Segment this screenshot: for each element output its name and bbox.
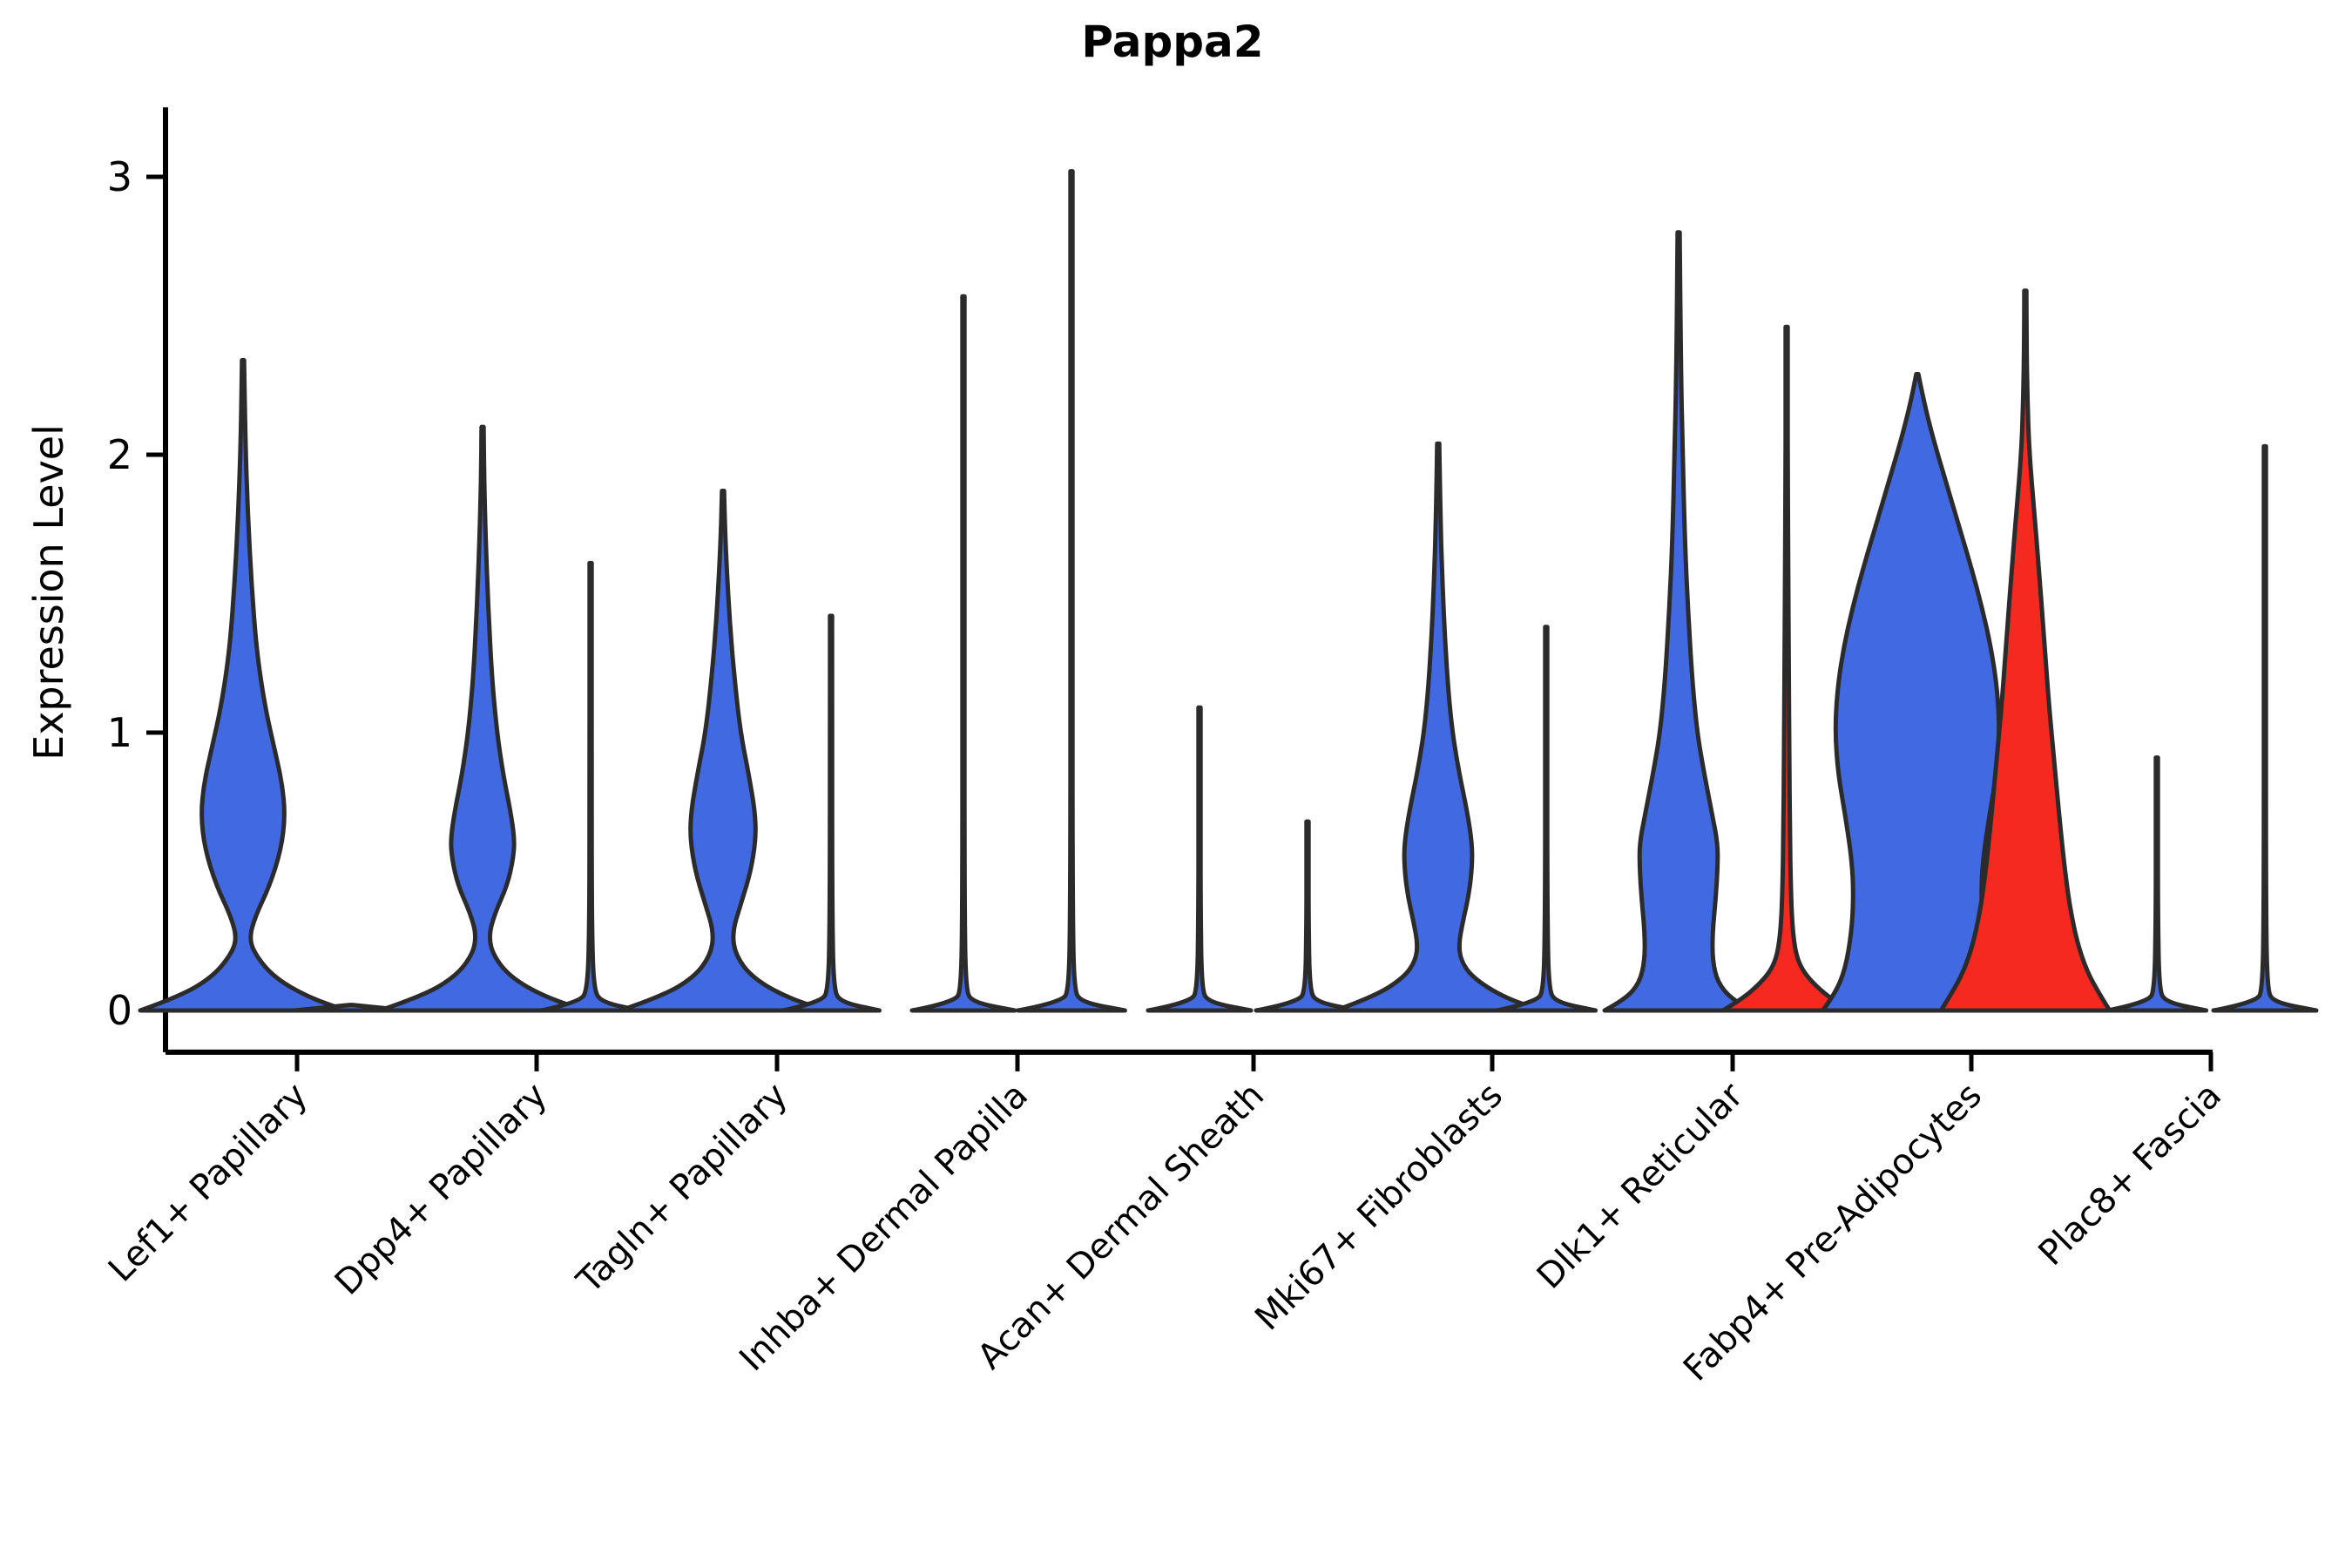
plot-canvas: Pappa2 Expression Level 0123 Lef1+ Papil… <box>0 0 2352 1568</box>
y-tick-label: 1 <box>107 709 132 756</box>
y-tick-label: 3 <box>107 153 132 200</box>
y-tick-label: 0 <box>107 987 132 1034</box>
page-title: Pappa2 <box>1081 17 1263 67</box>
violin-plot-figure: Pappa2 Expression Level 0123 Lef1+ Papil… <box>0 0 2352 1568</box>
y-axis-label: Expression Level <box>25 424 72 760</box>
y-tick-label: 2 <box>107 431 132 478</box>
